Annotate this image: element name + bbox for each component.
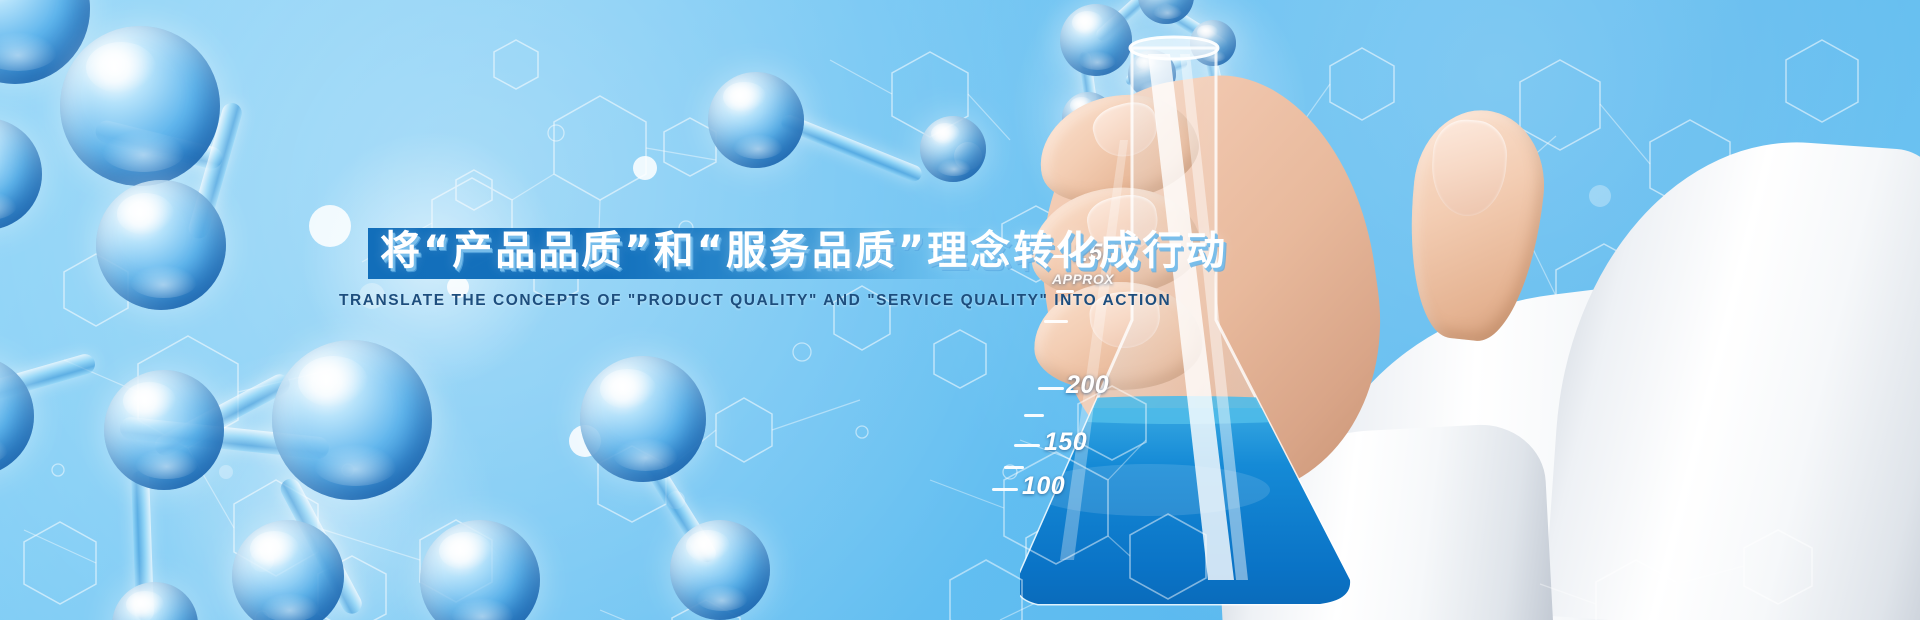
promo-banner: 250 APPROX 200 150 100 [0,0,1920,620]
page-title: 将“产品品质”和“服务品质”理念转化成行动 [380,231,1228,271]
page-subtitle: TRANSLATE THE CONCEPTS OF "PRODUCT QUALI… [339,292,1171,310]
hexagon-network-foreground-icon [0,0,1920,620]
